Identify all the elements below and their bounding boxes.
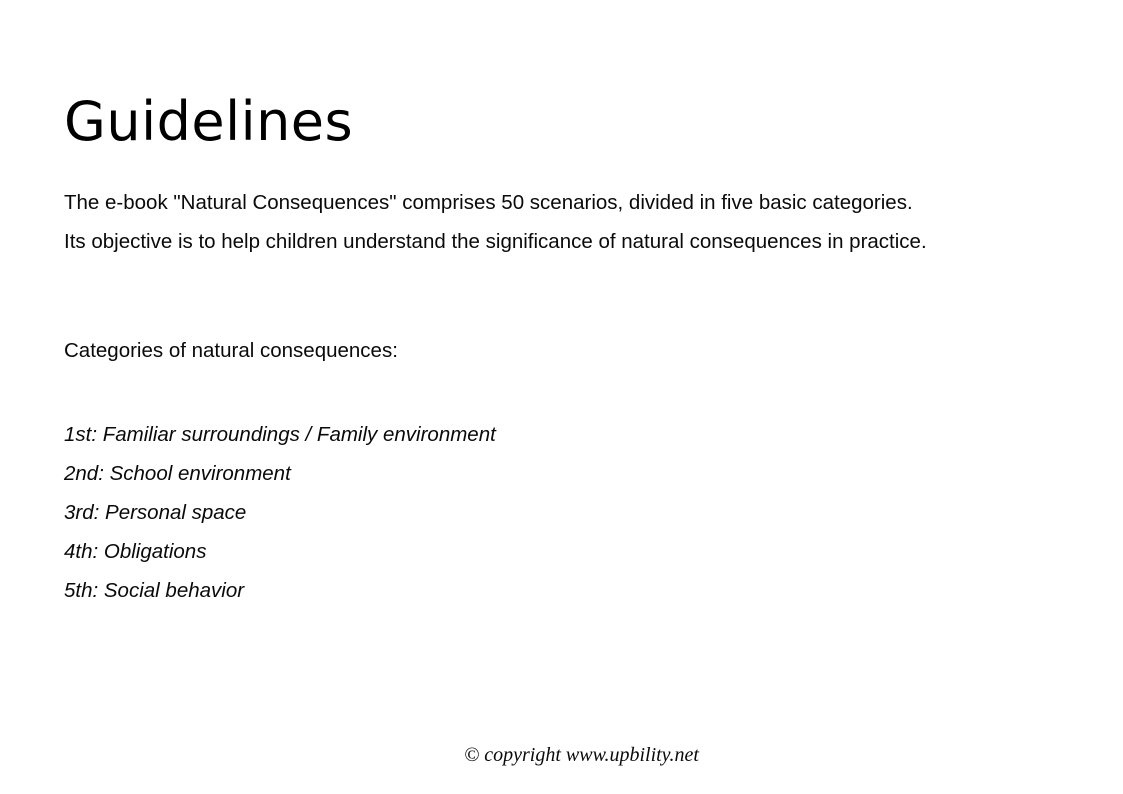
copyright-notice: © copyright www.upbility.net: [464, 744, 699, 767]
list-item: 2nd: School environment: [64, 454, 496, 493]
list-item: 4th: Obligations: [64, 532, 496, 571]
document-page: Guidelines The e-book "Natural Consequen…: [0, 0, 1123, 794]
page-footer: © copyright www.upbility.net: [0, 744, 1123, 767]
list-item: 1st: Familiar surroundings / Family envi…: [64, 415, 496, 454]
list-item: 5th: Social behavior: [64, 571, 496, 610]
category-list: 1st: Familiar surroundings / Family envi…: [64, 415, 496, 610]
page-title: Guidelines: [64, 92, 353, 151]
categories-lead-in: Categories of natural consequences:: [64, 337, 398, 365]
intro-line-1: The e-book "Natural Consequences" compri…: [64, 183, 1064, 222]
intro-paragraph: The e-book "Natural Consequences" compri…: [64, 183, 1064, 261]
intro-line-2: Its objective is to help children unders…: [64, 222, 1064, 261]
list-item: 3rd: Personal space: [64, 493, 496, 532]
